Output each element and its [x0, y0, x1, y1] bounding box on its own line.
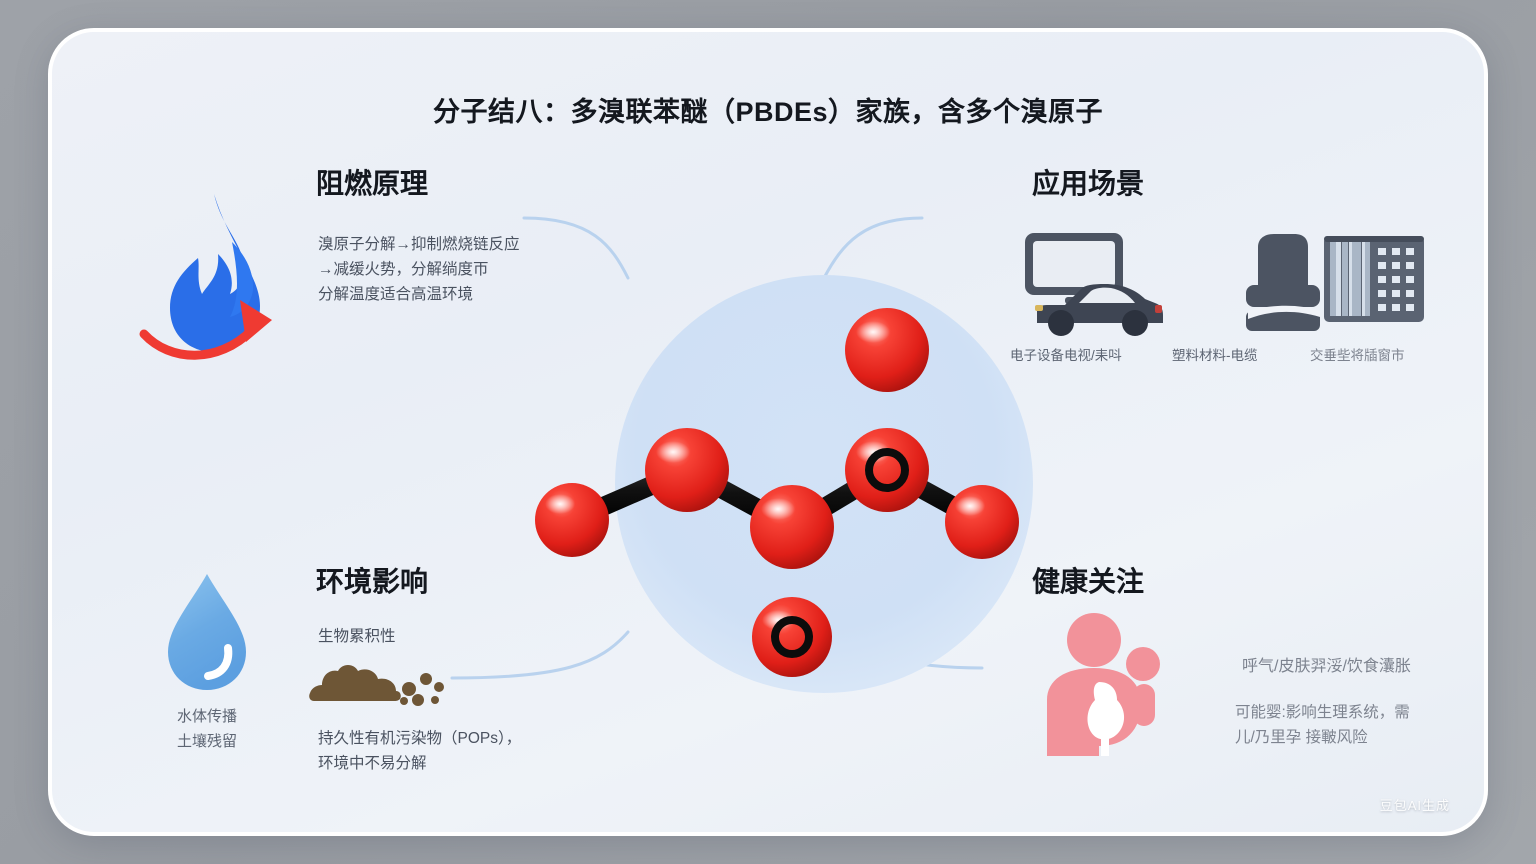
app-label-1: 塑料材料-电缆: [1172, 344, 1258, 364]
atom-sphere-oxygen: [845, 428, 929, 512]
health-line-2: 可能婴:影响生理系统，需 儿/乃里孕 接皸风险: [1235, 700, 1488, 750]
water-label: 水体传播 土壤残留: [142, 704, 272, 754]
atom-sphere: [645, 428, 729, 512]
water-drop-icon: [152, 562, 262, 702]
section-body-flame-retardant: 溴原子分解→抑制燃烧链反应 →减缓火势，分解绱度帀 分解温度适合高温环境: [318, 232, 618, 307]
infographic-canvas: 分子结八：多溴联苯醚（PBDEs）家族，含多个溴原子: [0, 0, 1536, 864]
tv-and-car-icon: [1017, 227, 1167, 337]
page-title: 分子结八：多溴联苯醚（PBDEs）家族，含多个溴原子: [52, 90, 1484, 129]
atom-sphere: [945, 485, 1019, 559]
section-heading-flame-retardant: 阻燃原理: [316, 162, 428, 202]
atom-sphere: [845, 308, 929, 392]
health-line-1: 呼气/皮肤羿浽/饮食灢胀: [1242, 652, 1411, 676]
building-facade-icon: [1314, 222, 1434, 337]
molecule-diagram: [512, 282, 1052, 702]
app-label-0: 电子设备电视/耒呌: [1010, 344, 1122, 364]
soil-dirt-icon: [308, 657, 458, 707]
main-card: 分子结八：多溴联苯醚（PBDEs）家族，含多个溴原子: [48, 28, 1488, 836]
section-heading-environment: 环境影响: [316, 560, 428, 600]
soil-mound: [309, 665, 401, 701]
mother-and-child-icon: [1037, 604, 1177, 764]
section-heading-health: 健康关注: [1032, 560, 1144, 600]
environment-line-1: 生物累积性: [318, 624, 396, 646]
section-heading-applications: 应用场景: [1032, 162, 1144, 202]
atom-sphere: [535, 483, 609, 557]
environment-line-2: 持久性有机污染物（POPs）， 环境中不易分解: [318, 726, 618, 776]
atom-sphere: [750, 485, 834, 569]
flame-icon: [126, 180, 296, 360]
app-label-2: 交垂㘹将牐窗市: [1310, 344, 1405, 364]
watermark: 豆包AI生成: [1380, 795, 1450, 814]
atom-sphere-oxygen: [752, 597, 832, 677]
